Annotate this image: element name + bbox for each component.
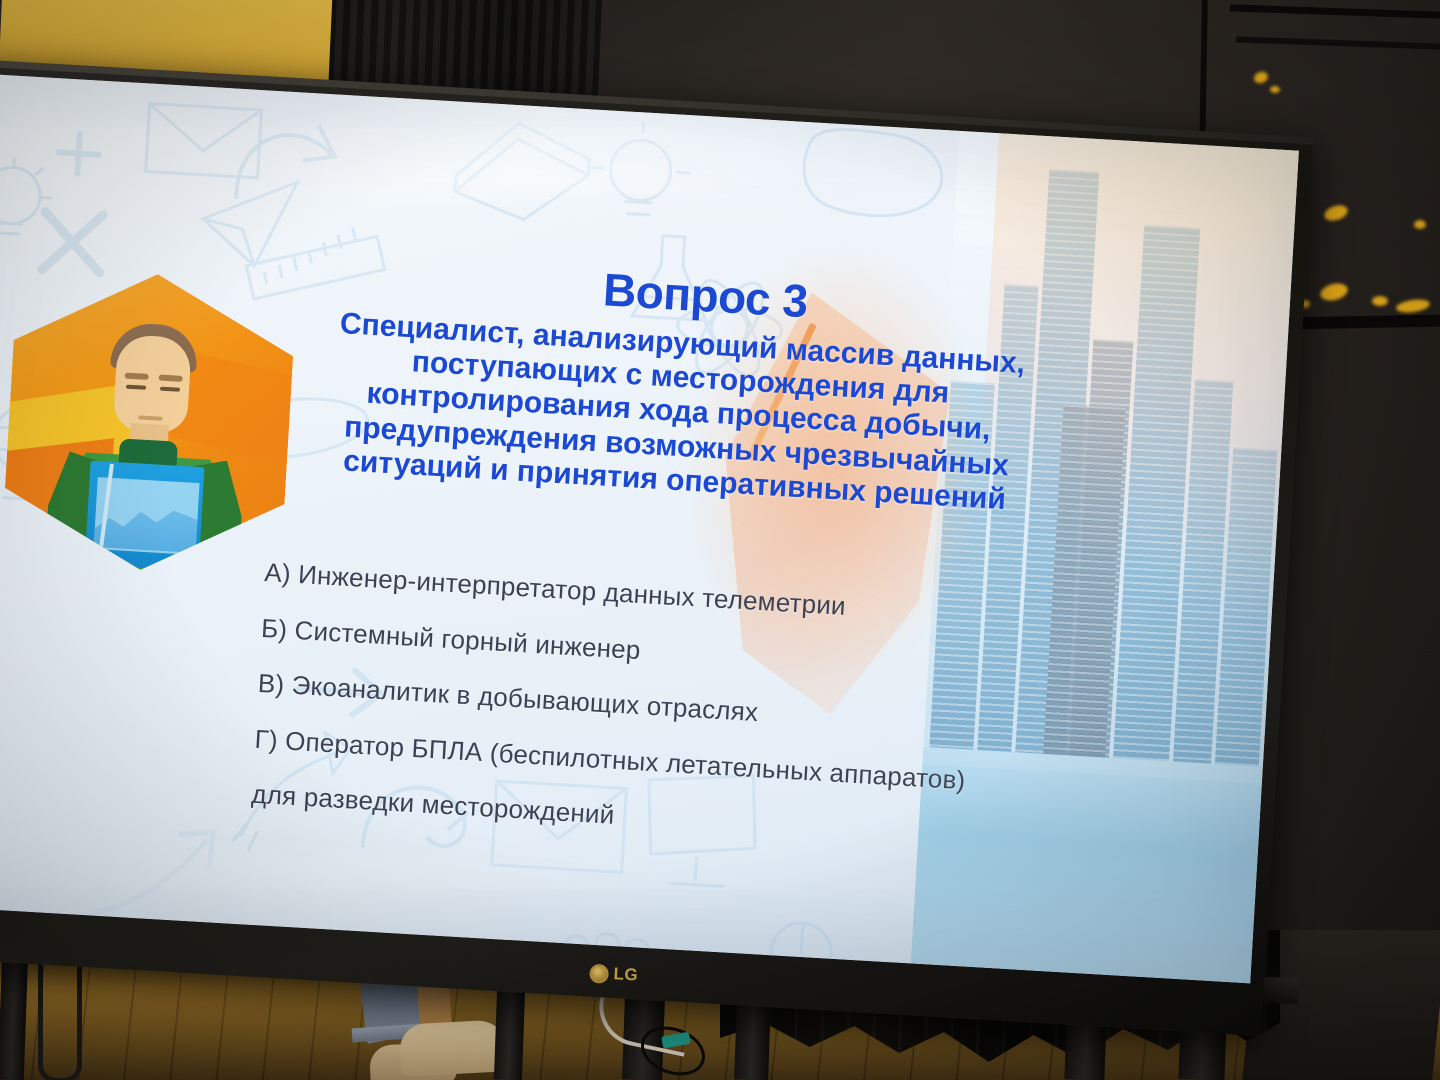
answer-options: А) Инженер-интерпретатор данных телеметр… (249, 559, 1094, 885)
hexagon-frame (1, 266, 298, 578)
avatar-hand (186, 548, 221, 574)
lg-logo: LG (589, 963, 639, 986)
tv-stand-leg (0, 950, 28, 1080)
light-reflection (1414, 220, 1426, 229)
photo-scene: Вопрос 3 Специалист, анализирующий масси… (0, 0, 1440, 1080)
lg-wordmark: LG (613, 964, 639, 985)
power-cable (38, 960, 82, 1080)
tv-screen: Вопрос 3 Специалист, анализирующий масси… (0, 73, 1299, 984)
avatar-collar (119, 438, 178, 465)
plus-icon (47, 122, 110, 185)
light-reflection (1372, 296, 1388, 306)
lg-television: Вопрос 3 Специалист, анализирующий масси… (0, 58, 1314, 1036)
light-reflection (1270, 86, 1280, 93)
person-shoe (399, 1019, 510, 1077)
lg-ring-icon (589, 963, 609, 983)
presentation-slide: Вопрос 3 Специалист, анализирующий масси… (0, 73, 1299, 984)
avatar (1, 266, 298, 578)
avatar-hand (65, 541, 100, 567)
